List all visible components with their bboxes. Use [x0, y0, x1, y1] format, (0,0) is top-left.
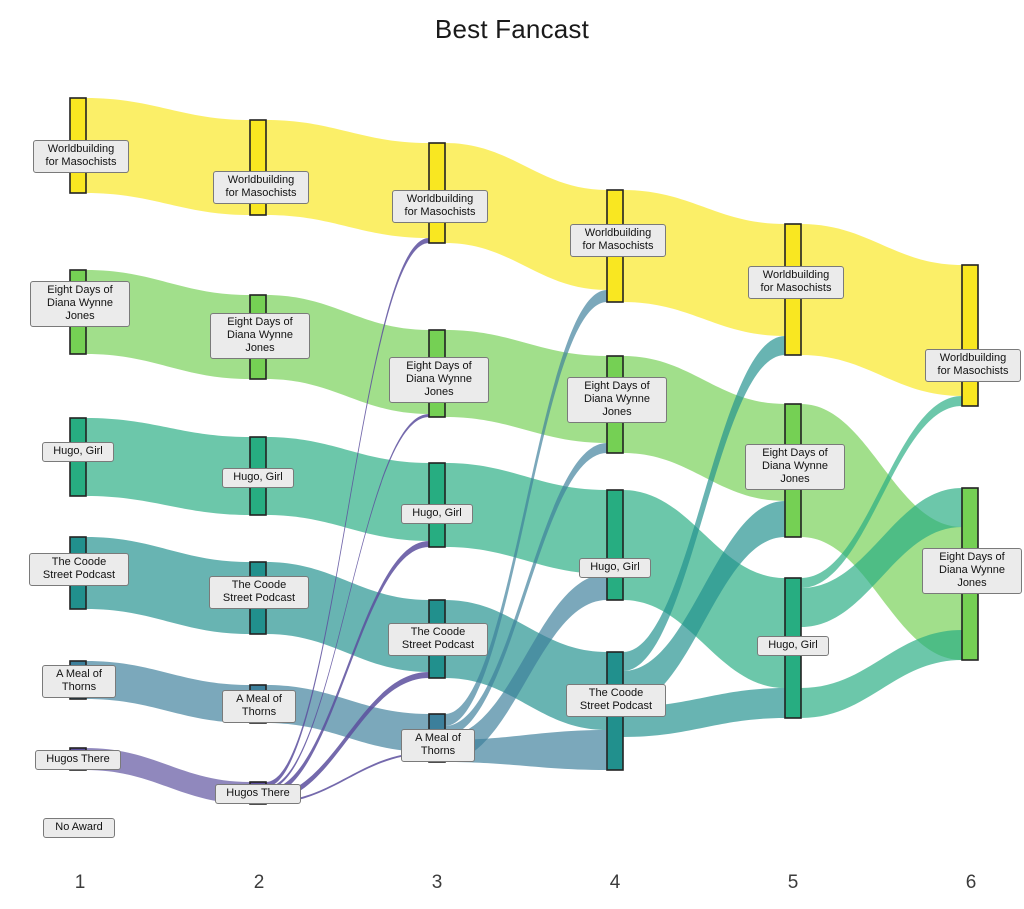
node-label-hg2[interactable]: Hugo, Girl — [222, 468, 294, 488]
node-label-ed6[interactable]: Eight Days of Diana Wynne Jones — [922, 548, 1022, 594]
axis-tick-4: 4 — [595, 872, 635, 894]
node-label-ed3[interactable]: Eight Days of Diana Wynne Jones — [389, 357, 489, 403]
node-label-cs3[interactable]: The Coode Street Podcast — [388, 623, 488, 656]
node-label-ed1[interactable]: Eight Days of Diana Wynne Jones — [30, 281, 130, 327]
axis-tick-1: 1 — [60, 872, 100, 894]
node-label-hg5[interactable]: Hugo, Girl — [757, 636, 829, 656]
node-label-ed2[interactable]: Eight Days of Diana Wynne Jones — [210, 313, 310, 359]
node-label-na1[interactable]: No Award — [43, 818, 115, 838]
sankey-node[interactable] — [962, 265, 978, 406]
axis-tick-5: 5 — [773, 872, 813, 894]
sankey-chart-canvas: Best Fancast Worldbuilding for Masochist… — [0, 0, 1024, 909]
axis-tick-6: 6 — [951, 872, 991, 894]
node-label-wb2[interactable]: Worldbuilding for Masochists — [213, 171, 309, 204]
node-label-mt1[interactable]: A Meal of Thorns — [42, 665, 116, 698]
node-label-mt2[interactable]: A Meal of Thorns — [222, 690, 296, 723]
axis-tick-2: 2 — [239, 872, 279, 894]
sankey-svg — [0, 0, 1024, 909]
node-label-wb5[interactable]: Worldbuilding for Masochists — [748, 266, 844, 299]
node-label-wb6[interactable]: Worldbuilding for Masochists — [925, 349, 1021, 382]
node-label-cs1[interactable]: The Coode Street Podcast — [29, 553, 129, 586]
axis-tick-3: 3 — [417, 872, 457, 894]
node-label-wb1[interactable]: Worldbuilding for Masochists — [33, 140, 129, 173]
node-label-wb3[interactable]: Worldbuilding for Masochists — [392, 190, 488, 223]
sankey-link — [266, 437, 429, 541]
node-label-hg3[interactable]: Hugo, Girl — [401, 504, 473, 524]
sankey-node[interactable] — [607, 490, 623, 600]
node-label-wb4[interactable]: Worldbuilding for Masochists — [570, 224, 666, 257]
node-label-ed5[interactable]: Eight Days of Diana Wynne Jones — [745, 444, 845, 490]
node-label-ht1[interactable]: Hugos There — [35, 750, 121, 770]
sankey-link — [86, 418, 250, 515]
sankey-link — [623, 190, 785, 336]
node-label-hg1[interactable]: Hugo, Girl — [42, 442, 114, 462]
node-label-ed4[interactable]: Eight Days of Diana Wynne Jones — [567, 377, 667, 423]
node-label-ht2[interactable]: Hugos There — [215, 784, 301, 804]
node-label-hg4[interactable]: Hugo, Girl — [579, 558, 651, 578]
node-label-mt3[interactable]: A Meal of Thorns — [401, 729, 475, 762]
node-label-cs2[interactable]: The Coode Street Podcast — [209, 576, 309, 609]
node-label-cs4[interactable]: The Coode Street Podcast — [566, 684, 666, 717]
